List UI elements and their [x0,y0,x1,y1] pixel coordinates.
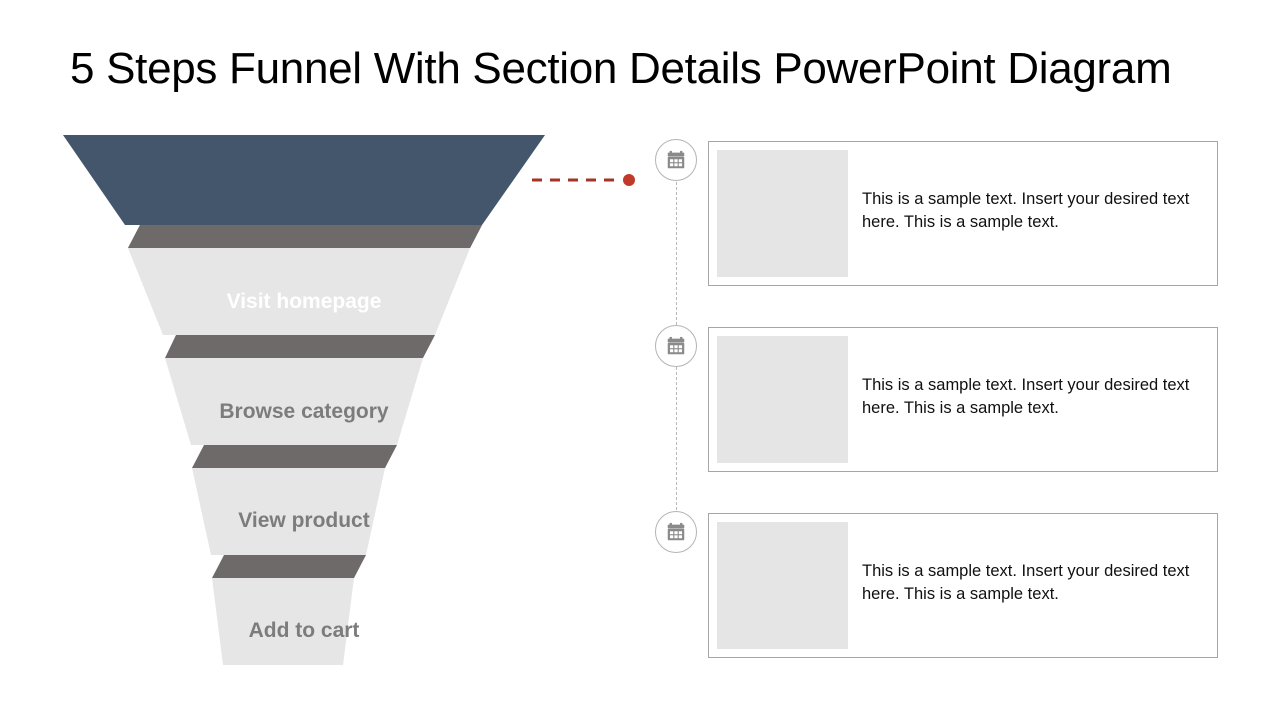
calendar-icon [665,149,687,171]
detail-card[interactable]: This is a sample text. Insert your desir… [708,513,1218,658]
connector-endpoint-dot [623,174,635,186]
timeline-icon-marker-2[interactable] [655,325,697,367]
funnel-connector-band-2 [165,335,435,358]
funnel-segment-2[interactable] [128,248,470,335]
card-content: This is a sample text. Insert your desir… [709,328,1217,471]
funnel-svg [40,125,640,685]
funnel-segment-4[interactable] [192,468,385,555]
card-content: This is a sample text. Insert your desir… [709,142,1217,285]
page-title: 5 Steps Funnel With Section Details Powe… [70,40,1210,98]
timeline-icon-marker-1[interactable] [655,139,697,181]
funnel-segment-5[interactable] [212,578,354,665]
image-placeholder [717,336,848,463]
funnel-connector-band-3 [192,445,397,468]
funnel-connector-skew-1 [128,225,482,248]
slide-canvas: 5 Steps Funnel With Section Details Powe… [0,0,1280,720]
funnel-to-card-connector [530,165,650,195]
calendar-icon [665,335,687,357]
card-body-text: This is a sample text. Insert your desir… [862,374,1204,420]
timeline-icon-marker-3[interactable] [655,511,697,553]
detail-card[interactable]: This is a sample text. Insert your desir… [708,141,1218,286]
card-body-text: This is a sample text. Insert your desir… [862,560,1204,606]
funnel-connector-band-4 [212,555,366,578]
card-content: This is a sample text. Insert your desir… [709,514,1217,657]
connector-svg [530,165,650,195]
image-placeholder [717,522,848,649]
image-placeholder [717,150,848,277]
funnel-segment-3[interactable] [165,358,423,445]
funnel-segment-1[interactable] [63,135,545,225]
calendar-icon [665,521,687,543]
card-body-text: This is a sample text. Insert your desir… [862,188,1204,234]
detail-card[interactable]: This is a sample text. Insert your desir… [708,327,1218,472]
funnel-diagram: Visit homepage Browse category View prod… [40,125,640,685]
